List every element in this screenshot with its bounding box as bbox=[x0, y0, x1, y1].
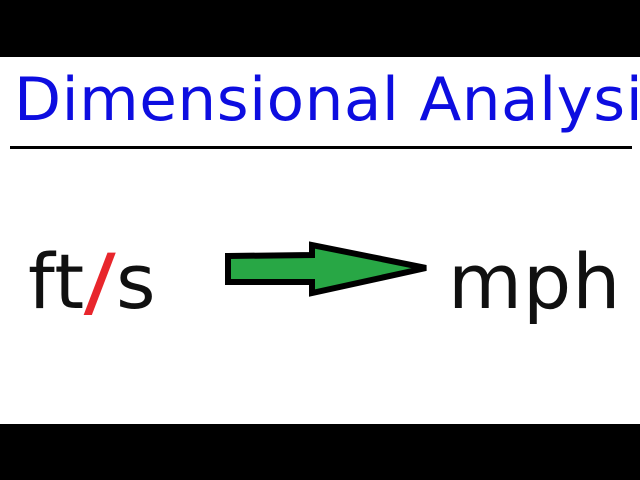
letterbox-top bbox=[0, 0, 640, 57]
right-arrow-shape bbox=[228, 245, 426, 293]
source-unit-numerator: ft bbox=[28, 237, 85, 326]
letterbox-bottom bbox=[0, 424, 640, 480]
source-unit-expression: ft/s bbox=[28, 227, 157, 337]
right-arrow-icon-svg bbox=[224, 235, 430, 301]
unit-conversion-row: ft/s mph bbox=[0, 227, 640, 357]
title-underline-rule bbox=[10, 146, 632, 149]
slide-root: Dimensional Analysis ft/s mph bbox=[0, 0, 640, 480]
page-title: Dimensional Analysis bbox=[14, 59, 640, 141]
source-unit-denominator: s bbox=[116, 237, 157, 326]
slide-content-area: Dimensional Analysis ft/s mph bbox=[0, 57, 640, 424]
title-block: Dimensional Analysis bbox=[0, 57, 640, 157]
unit-divider-slash: / bbox=[81, 227, 119, 337]
right-arrow-icon bbox=[224, 235, 430, 301]
target-unit-expression: mph bbox=[448, 227, 621, 337]
